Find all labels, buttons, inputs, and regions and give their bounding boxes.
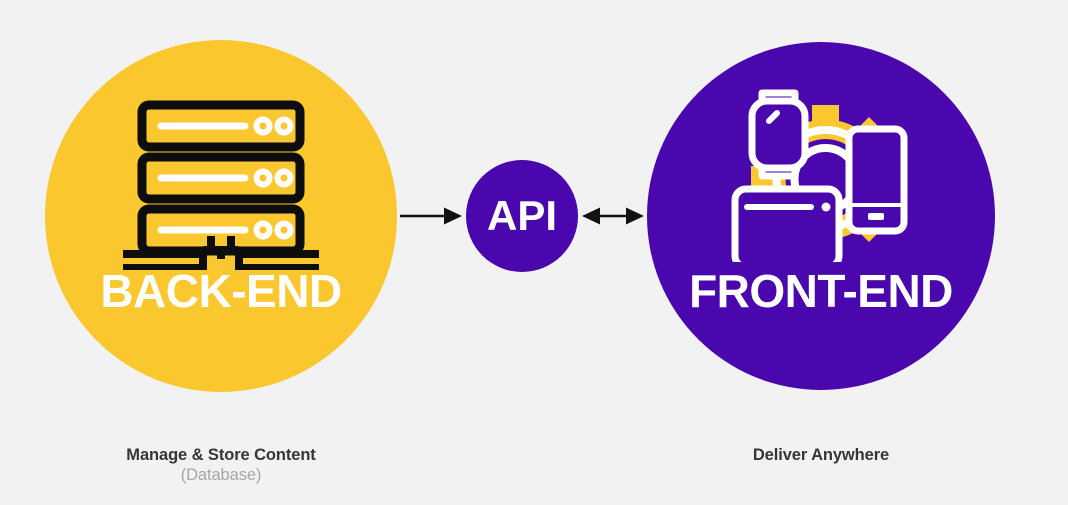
backend-node[interactable]: BACK-END: [45, 40, 397, 392]
arrow-backend-to-api-icon: [400, 204, 462, 233]
arrow-api-to-frontend-icon: [582, 204, 644, 233]
api-label: API: [466, 195, 578, 237]
diagram-canvas: BACK-END API: [0, 0, 1068, 505]
api-node[interactable]: API: [466, 160, 578, 272]
devices-gear-icon: [727, 87, 917, 267]
frontend-caption: Deliver Anywhere: [621, 445, 1021, 465]
frontend-node[interactable]: FRONT-END: [647, 42, 995, 390]
backend-caption-subtitle: (Database): [21, 465, 421, 485]
frontend-label: FRONT-END: [647, 268, 995, 314]
backend-caption-title: Manage & Store Content: [21, 445, 421, 465]
backend-label: BACK-END: [45, 268, 397, 314]
backend-caption: Manage & Store Content (Database): [21, 445, 421, 485]
frontend-caption-title: Deliver Anywhere: [621, 445, 1021, 465]
server-stack-icon: [123, 100, 319, 275]
